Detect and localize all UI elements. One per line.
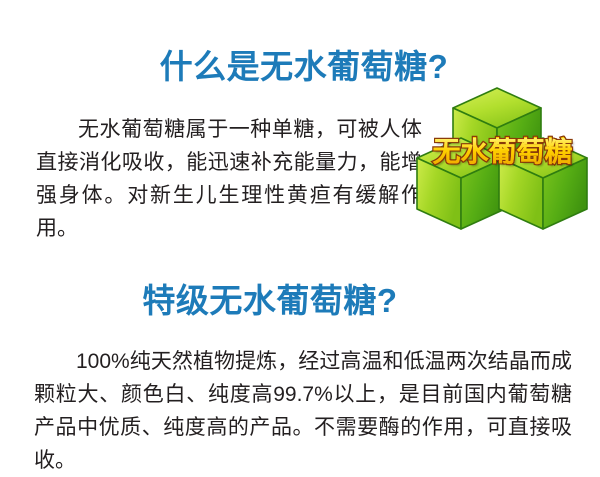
section-2-heading: 特级无水葡萄糖? (0, 284, 600, 317)
cube-bottom-right (499, 138, 587, 229)
section-1-heading: 什么是无水葡萄糖? (0, 50, 600, 83)
cube-stack-icon (415, 86, 590, 231)
poster-page: 什么是无水葡萄糖? 无水葡萄糖属于一种单糖，可被人体直接消化吸收，能迅速补充能量… (0, 0, 600, 465)
section-2-body-text: 100%纯天然植物提炼，经过高温和低温两次结晶而成颗粒大、颜色白、纯度高99.7… (34, 345, 572, 477)
cube-bottom-left (417, 138, 505, 229)
glucose-cubes-logo: 无水葡萄糖 无水葡萄糖 (415, 86, 590, 231)
section-1-body-text: 无水葡萄糖属于一种单糖，可被人体直接消化吸收，能迅速补充能量力，能增强身体。对新… (36, 113, 422, 245)
